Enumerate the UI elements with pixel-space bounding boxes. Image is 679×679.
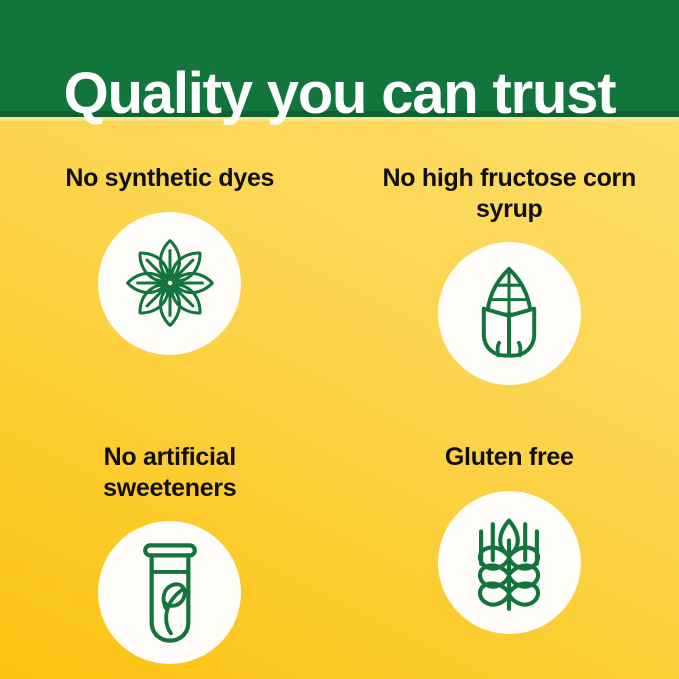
feature-label-no-synthetic-dyes: No synthetic dyes xyxy=(65,163,274,194)
flower-rosette-icon xyxy=(116,229,224,337)
feature-gluten-free: Gluten free xyxy=(340,400,679,679)
feature-label-gluten-free: Gluten free xyxy=(445,442,574,473)
wheat-stalk-icon xyxy=(459,508,559,616)
feature-grid: No synthetic dyes xyxy=(0,121,679,679)
feature-no-artificial-sweeteners: No artificial sweeteners xyxy=(0,400,340,679)
medallion-no-synthetic-dyes xyxy=(98,212,241,355)
medallion-no-high-fructose-corn-syrup xyxy=(438,242,581,385)
feature-no-synthetic-dyes: No synthetic dyes xyxy=(0,121,340,400)
medallion-no-artificial-sweeteners xyxy=(98,521,241,664)
feature-label-no-artificial-sweeteners: No artificial sweeteners xyxy=(40,442,300,503)
corn-cob-icon xyxy=(459,260,559,368)
feature-no-high-fructose-corn-syrup: No high fructose corn syrup xyxy=(340,121,679,400)
quality-claims-infographic: Quality you can trust No synthetic dyes xyxy=(0,0,679,679)
medallion-gluten-free xyxy=(438,491,581,634)
test-tube-leaf-icon xyxy=(126,538,214,648)
feature-label-no-high-fructose-corn-syrup: No high fructose corn syrup xyxy=(379,163,639,224)
